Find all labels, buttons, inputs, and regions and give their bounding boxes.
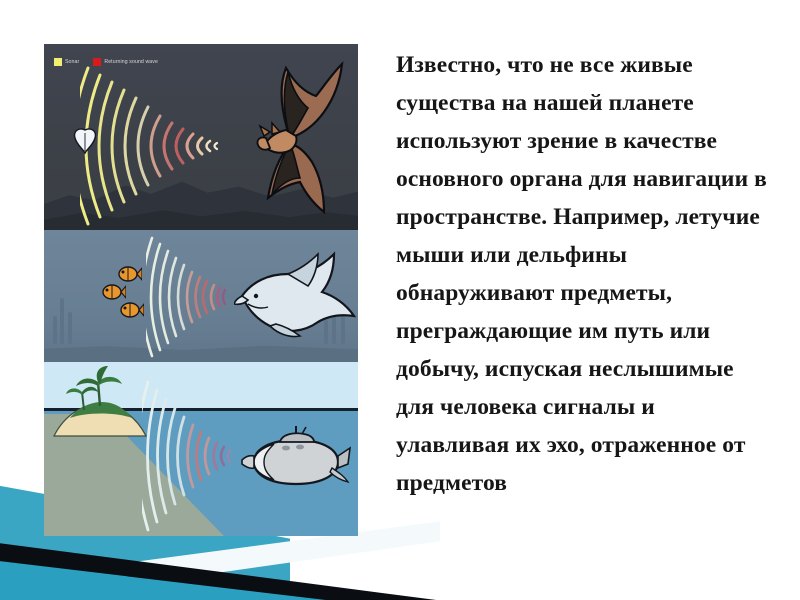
submarine-icon	[240, 424, 352, 494]
ribbon-teal-front	[0, 538, 440, 600]
dolphin-icon	[234, 248, 356, 344]
slide-canvas: Sonar Returning sound wave	[0, 0, 800, 600]
sonar-cone-bat	[80, 62, 236, 230]
legend-swatch-emitted-icon	[54, 58, 62, 66]
panel-submarine	[44, 362, 358, 536]
seaweed-icon	[60, 298, 64, 344]
seaweed-icon	[68, 312, 72, 344]
seaweed-icon	[53, 316, 57, 344]
body-paragraph: Известно, что не все живые существа на н…	[396, 46, 768, 502]
fish-icon	[100, 282, 126, 302]
legend-label-emitted: Sonar	[65, 59, 79, 65]
panel-bat: Sonar Returning sound wave	[44, 44, 358, 230]
fish-icon	[118, 300, 144, 320]
echolocation-figure: Sonar Returning sound wave	[44, 44, 358, 536]
fish-icon	[116, 264, 142, 284]
ribbon-dark-band	[0, 528, 440, 600]
sonar-cone-submarine	[142, 378, 244, 534]
moth-icon	[72, 126, 98, 156]
panel-dolphin	[44, 230, 358, 362]
slide-body-text: Известно, что не все живые существа на н…	[396, 46, 768, 502]
bat-icon	[220, 52, 356, 220]
sonar-cone-dolphin	[146, 234, 236, 360]
legend-entry-emitted: Sonar	[54, 58, 79, 66]
island-icon	[48, 366, 156, 440]
